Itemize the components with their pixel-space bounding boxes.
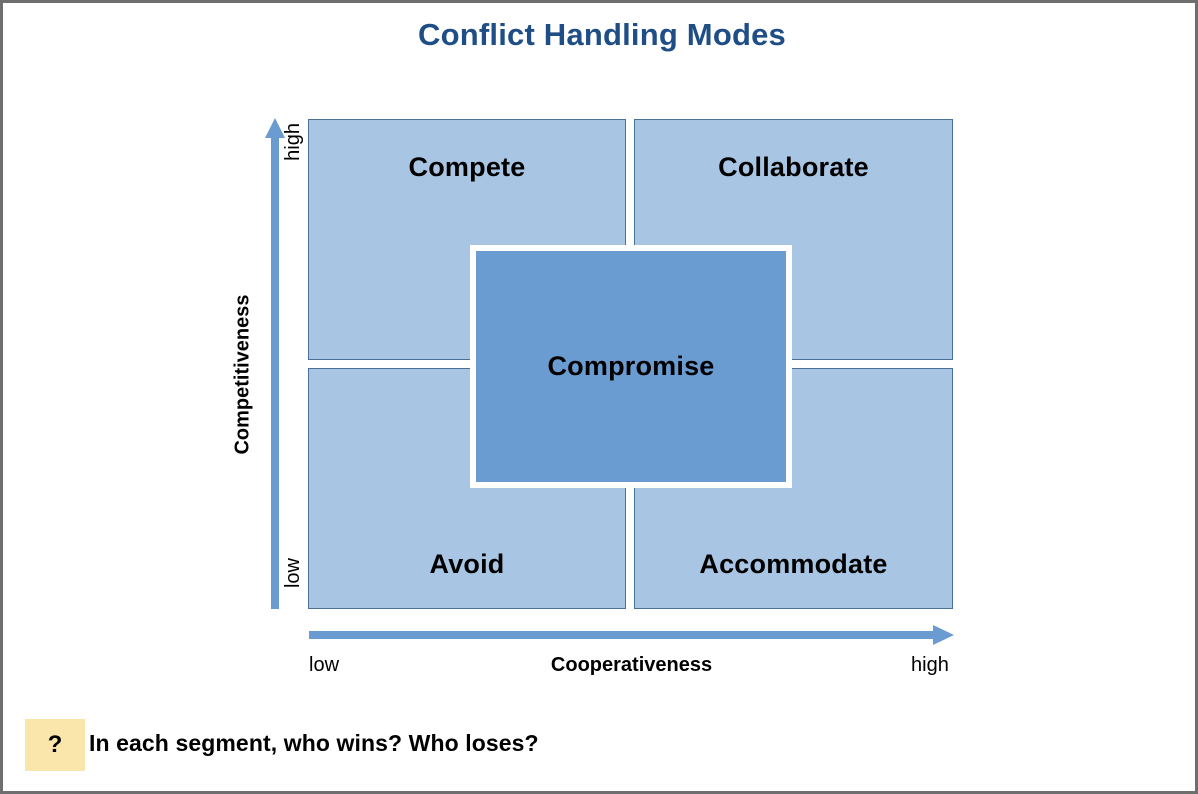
x-axis-line [309,631,935,639]
quadrant-label-compromise: Compromise [547,351,714,382]
x-axis-tick-high: high [911,654,949,677]
slide-canvas: Conflict Handling Modes high low Competi… [0,0,1198,794]
y-axis-title: Competitiveness [232,245,255,505]
x-axis-arrowhead-icon [933,625,954,645]
footer-question-text: In each segment, who wins? Who loses? [89,730,539,757]
y-axis-tick-low: low [282,558,305,618]
x-axis-title: Cooperativeness [309,654,954,677]
conflict-matrix: Compete Collaborate Avoid Accommodate Co… [308,119,953,609]
quadrant-label-avoid: Avoid [430,549,505,580]
quadrant-compromise[interactable]: Compromise [470,245,792,488]
y-axis-tick-high: high [282,123,305,183]
quadrant-label-compete: Compete [409,152,526,183]
y-axis-line [271,136,279,609]
question-mark-icon: ? [25,719,85,771]
quadrant-label-accommodate: Accommodate [699,549,887,580]
page-title: Conflict Handling Modes [3,17,1198,53]
quadrant-label-collaborate: Collaborate [718,152,869,183]
